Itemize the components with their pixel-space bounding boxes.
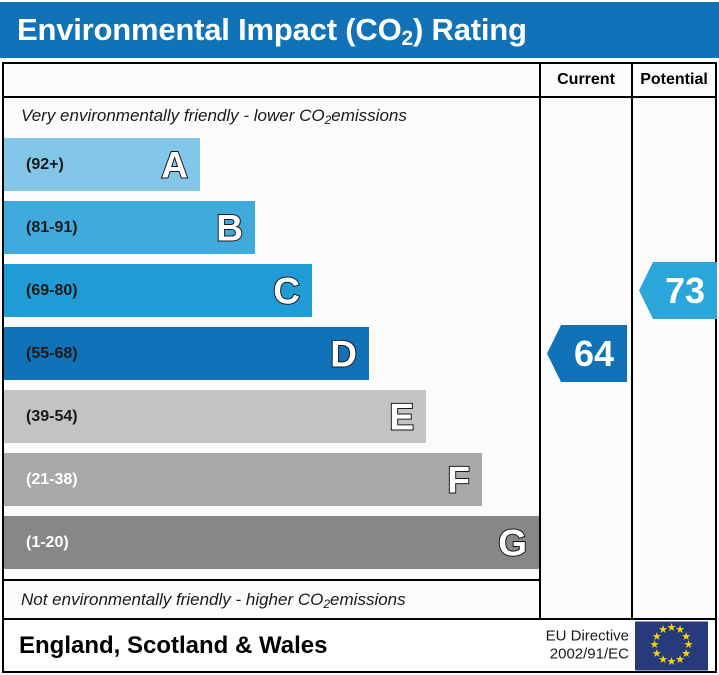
caption-top-suffix: emissions	[331, 106, 407, 126]
eu-directive-label: EU Directive 2002/91/EC	[546, 627, 629, 665]
column-header-row: Current Potential	[4, 64, 715, 98]
rating-potential: 73	[639, 262, 717, 319]
column-divider-potential	[631, 64, 633, 618]
eu-star-icon: ★	[658, 625, 668, 636]
band-range-a: (92+)	[4, 156, 64, 174]
epc-environmental-impact-certificate: Environmental Impact (CO2) Rating Curren…	[0, 0, 719, 675]
title-bar: Environmental Impact (CO2) Rating	[0, 2, 719, 58]
rating-value-potential: 73	[651, 273, 705, 309]
eu-flag-icon: ★★★★★★★★★★★★	[635, 621, 708, 670]
band-letter-a: A	[161, 146, 188, 183]
band-range-g: (1-20)	[4, 534, 69, 552]
caption-top-subscript: 2	[325, 113, 332, 127]
footer: England, Scotland & Wales EU Directive 2…	[2, 620, 717, 673]
caption-bottom-prefix: Not environmentally friendly - higher CO	[21, 590, 323, 610]
band-letter-d: D	[330, 335, 357, 372]
band-a: (92+)A	[4, 138, 200, 191]
column-divider-current	[539, 64, 541, 618]
directive-line-2: 2002/91/EC	[546, 646, 629, 665]
band-g: (1-20)G	[4, 516, 539, 569]
caption-bottom-suffix: emissions	[330, 590, 406, 610]
column-header-current: Current	[541, 64, 631, 96]
caption-top-prefix: Very environmentally friendly - lower CO	[21, 106, 325, 126]
caption-very-friendly: Very environmentally friendly - lower CO…	[4, 98, 539, 134]
band-letter-e: E	[389, 398, 414, 435]
rating-table: Current Potential Very environmentally f…	[2, 62, 717, 620]
band-b: (81-91)B	[4, 201, 255, 254]
band-list: (92+)A(81-91)B(69-80)C(55-68)D(39-54)E(2…	[4, 138, 539, 578]
band-e: (39-54)E	[4, 390, 426, 443]
band-letter-c: C	[273, 272, 300, 309]
page-title: Environmental Impact (CO2) Rating	[0, 12, 527, 48]
region-label: England, Scotland & Wales	[4, 632, 327, 660]
directive-line-1: EU Directive	[546, 627, 629, 646]
column-header-potential: Potential	[633, 64, 715, 96]
band-range-b: (81-91)	[4, 219, 78, 237]
title-subscript: 2	[402, 27, 413, 50]
caption-not-friendly: Not environmentally friendly - higher CO…	[4, 579, 539, 618]
caption-bottom-subscript: 2	[323, 597, 330, 611]
band-c: (69-80)C	[4, 264, 312, 317]
band-range-d: (55-68)	[4, 345, 78, 363]
rating-current: 64	[547, 325, 627, 382]
band-range-f: (21-38)	[4, 471, 78, 489]
band-range-c: (69-80)	[4, 282, 78, 300]
band-letter-f: F	[447, 461, 470, 498]
title-prefix: Environmental Impact (CO	[17, 12, 402, 47]
band-f: (21-38)F	[4, 453, 482, 506]
band-d: (55-68)D	[4, 327, 369, 380]
rating-value-current: 64	[560, 336, 614, 372]
band-letter-g: G	[498, 524, 527, 561]
band-letter-b: B	[216, 209, 243, 246]
band-range-e: (39-54)	[4, 408, 78, 426]
title-suffix: ) Rating	[413, 12, 527, 47]
